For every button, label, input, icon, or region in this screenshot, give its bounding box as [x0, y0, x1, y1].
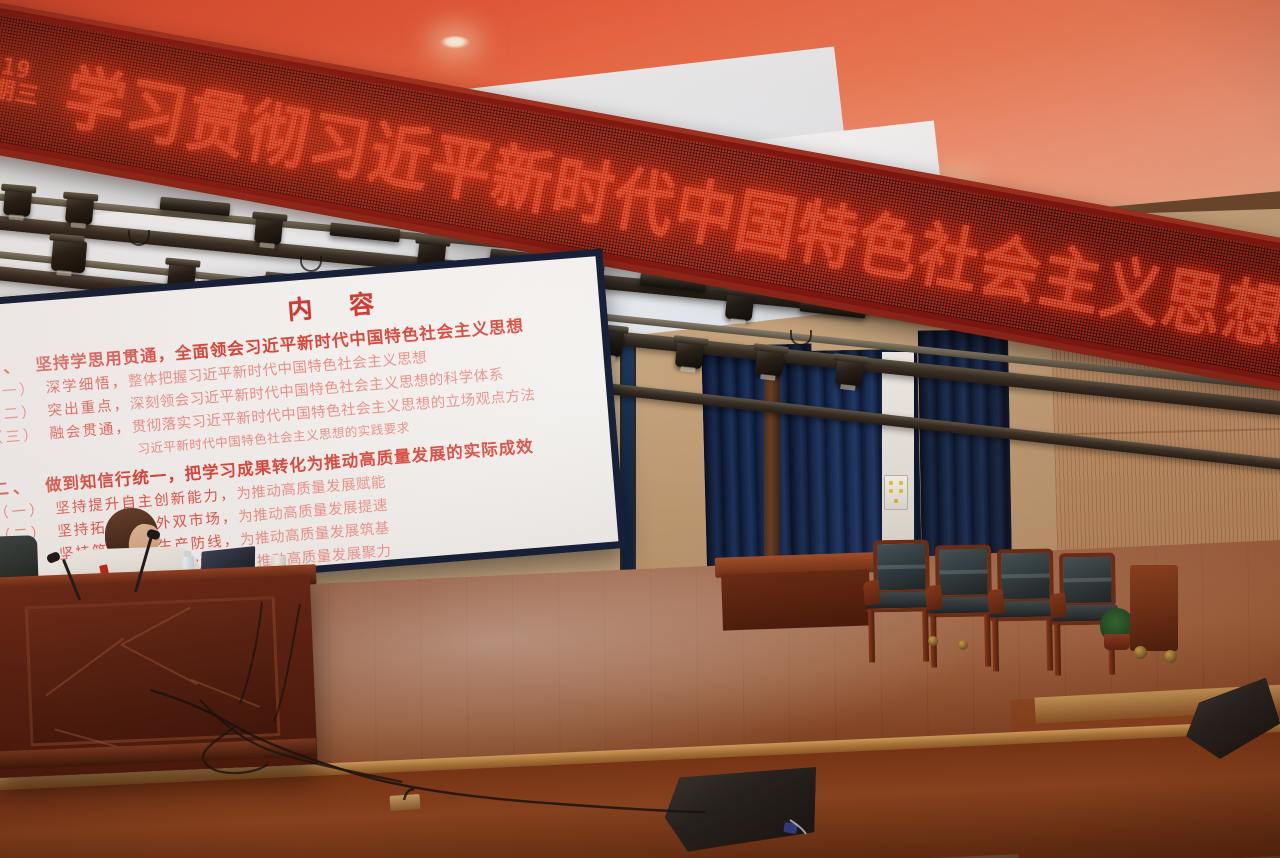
- stage-light-fixture: [835, 359, 865, 388]
- slide-sub-label: （一）: [0, 381, 38, 401]
- cart-caster-wheel: [1164, 650, 1177, 663]
- rolling-cart[interactable]: [1130, 565, 1178, 651]
- conference-hall-photo: 3/07/19 :53星期三 学习贯彻习近平新时代中国特色社会主义思想主题教育专…: [0, 0, 1280, 858]
- chair-armrest: [987, 589, 1005, 614]
- chair-leg: [868, 610, 875, 662]
- stage-light-fixture: [51, 239, 88, 274]
- podium-decor-line: [190, 679, 260, 708]
- chair-caster-wheel: [958, 640, 968, 650]
- stage-light-fixture: [3, 189, 32, 217]
- audience-chair[interactable]: [989, 548, 1059, 669]
- podium-front-panel: [25, 596, 281, 746]
- stage-light-fixture: [675, 341, 705, 370]
- projection-screen-surface: 内 容 一、坚持学思用贯通，全面领会习近平新时代中国特色社会主义思想 （一）深学…: [0, 256, 618, 591]
- podium-decor-line: [46, 638, 124, 697]
- podium-decor-line: [121, 644, 198, 686]
- podium-decor-line: [121, 606, 191, 645]
- chair-backrest: [1059, 552, 1116, 607]
- chair-leg: [1054, 623, 1061, 675]
- stage-light-fixture: [725, 293, 755, 322]
- projection-screen: 内 容 一、坚持学思用贯通，全面领会习近平新时代中国特色社会主义思想 （一）深学…: [0, 249, 626, 599]
- led-clock: 3/07/19 :53星期三: [0, 40, 46, 110]
- slide-sub-label: （三）: [0, 427, 41, 447]
- electrical-panel[interactable]: [884, 475, 908, 510]
- audience-chair[interactable]: [865, 539, 935, 660]
- slide-section-number: 一、: [0, 356, 24, 378]
- stage-light-fixture: [755, 349, 785, 378]
- cart-caster-wheel: [1134, 646, 1147, 659]
- chair-caster-wheel: [928, 636, 938, 646]
- slide-sub-lead: 融会贯通，: [49, 420, 133, 443]
- chair-armrest: [1049, 593, 1067, 618]
- speaker-cable-plug: [783, 822, 798, 834]
- chair-armrest: [863, 580, 881, 605]
- floor-power-outlet[interactable]: [390, 794, 421, 811]
- chair-armrest: [925, 585, 943, 610]
- chair-backrest: [873, 539, 930, 594]
- slide-section-number: 二、: [0, 477, 34, 499]
- slide-sub-label: （一）: [0, 502, 47, 522]
- chair-backrest: [997, 548, 1054, 603]
- downlight-icon: [440, 36, 470, 49]
- chair-leg: [992, 619, 999, 671]
- plant-pot: [1104, 634, 1130, 650]
- side-table-body: [721, 569, 871, 630]
- stage-light-fixture: [254, 217, 283, 245]
- slide-sub-label: （二）: [0, 404, 39, 424]
- stage-light-fixture: [65, 197, 94, 225]
- chair-backrest: [935, 544, 992, 599]
